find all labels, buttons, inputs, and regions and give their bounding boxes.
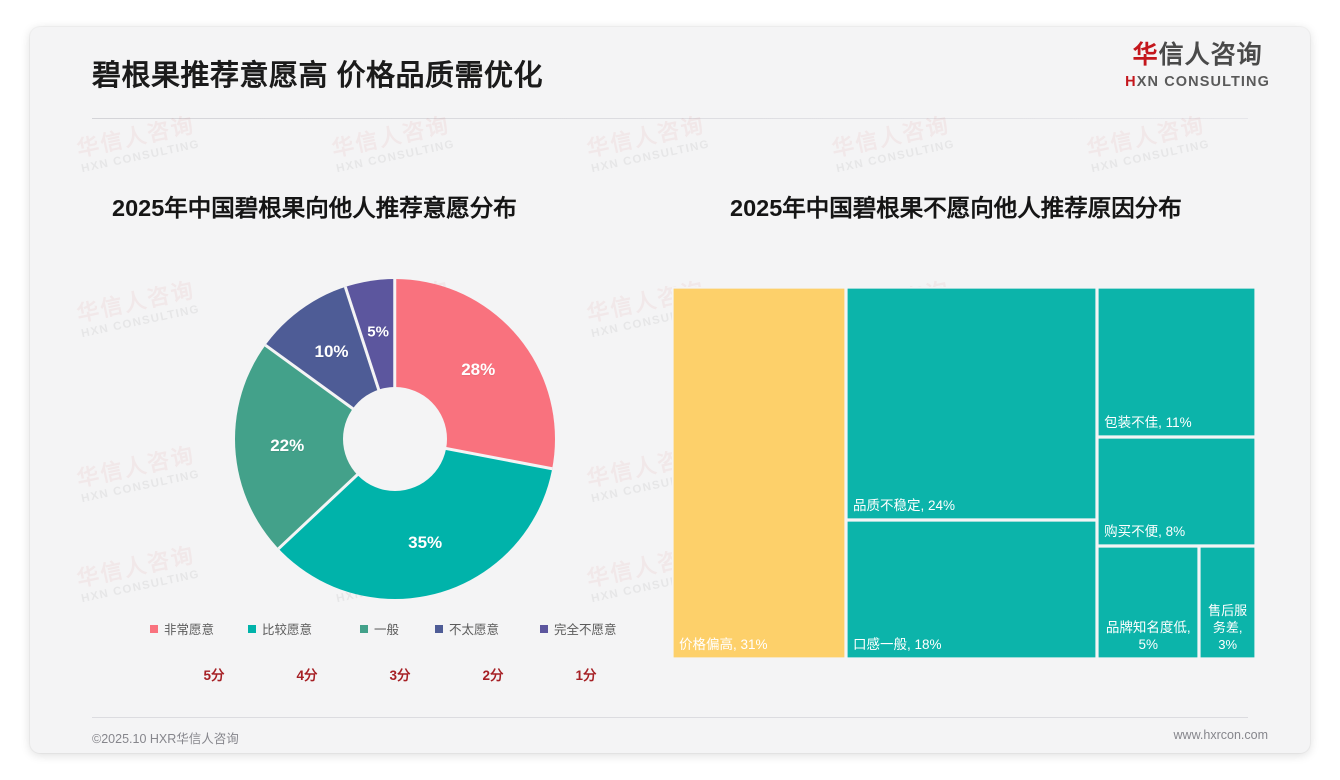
treemap-cell-label: 售后服务差, 3%	[1202, 603, 1253, 654]
watermark-chinese: 华信人咨询	[75, 444, 198, 491]
treemap-cell-label: 品牌知名度低, 5%	[1100, 619, 1196, 654]
recommendation-willingness-donut-chart: 28%35%22%10%5%	[235, 279, 555, 599]
slide-header: 碧根果推荐意愿高 价格品质需优化 华信人咨询 HXN CONSULTING	[30, 27, 1310, 119]
treemap-cell[interactable]: 口感一般, 18%	[846, 520, 1097, 660]
legend-color-swatch	[150, 625, 158, 633]
watermark-text: 华信人咨询HXN CONSULTING	[330, 114, 456, 176]
watermark-chinese: 华信人咨询	[75, 544, 198, 591]
donut-slice-label: 5%	[367, 324, 389, 341]
unwilling-reasons-treemap-chart: 价格偏高, 31%品质不稳定, 24%口感一般, 18%包装不佳, 11%购买不…	[672, 287, 1256, 659]
logo-letter-h: H	[1125, 74, 1137, 90]
logo-char-hua: 华	[1133, 41, 1159, 69]
watermark-english: HXN CONSULTING	[80, 469, 201, 505]
treemap-cell[interactable]: 品质不稳定, 24%	[846, 287, 1097, 520]
watermark-chinese: 华信人咨询	[75, 114, 198, 161]
watermark-chinese: 华信人咨询	[75, 279, 198, 326]
watermark-text: 华信人咨询HXN CONSULTING	[75, 114, 201, 176]
legend-color-swatch	[360, 625, 368, 633]
footer-copyright: ©2025.10 HXR华信人咨询	[92, 728, 239, 747]
right-chart-title: 2025年中国碧根果不愿向他人推荐原因分布	[730, 189, 1182, 223]
logo-english-text: HXN CONSULTING	[1125, 75, 1270, 90]
watermark-text: 华信人咨询HXN CONSULTING	[585, 114, 711, 176]
treemap-cell-label: 包装不佳, 11%	[1104, 414, 1252, 432]
legend-label: 非常愿意	[164, 619, 214, 638]
watermark-text: 华信人咨询HXN CONSULTING	[75, 544, 201, 606]
donut-legend-item[interactable]: 一般	[360, 619, 399, 638]
legend-color-swatch	[248, 625, 256, 633]
watermark-text: 华信人咨询HXN CONSULTING	[75, 279, 201, 341]
treemap-cell[interactable]: 售后服务差, 3%	[1199, 546, 1256, 659]
legend-label: 比较愿意	[262, 619, 312, 638]
treemap-cell[interactable]: 购买不便, 8%	[1097, 437, 1256, 546]
donut-legend: 非常愿意比较愿意一般不太愿意完全不愿意	[150, 619, 630, 641]
donut-slice-label: 10%	[315, 342, 349, 362]
score-label: 4分	[296, 664, 317, 684]
legend-label: 不太愿意	[449, 619, 499, 638]
donut-center-hole	[343, 387, 447, 491]
donut-legend-item[interactable]: 比较愿意	[248, 619, 312, 638]
legend-color-swatch	[435, 625, 443, 633]
legend-color-swatch	[540, 625, 548, 633]
left-chart-title: 2025年中国碧根果向他人推荐意愿分布	[112, 189, 517, 223]
slide-body: 华信人咨询HXN CONSULTING华信人咨询HXN CONSULTING华信…	[30, 119, 1310, 697]
donut-legend-item[interactable]: 完全不愿意	[540, 619, 617, 638]
watermark-english: HXN CONSULTING	[335, 139, 456, 175]
legend-label: 一般	[374, 619, 399, 638]
score-label: 3分	[389, 664, 410, 684]
watermark-chinese: 华信人咨询	[330, 114, 453, 161]
watermark-text: 华信人咨询HXN CONSULTING	[830, 114, 956, 176]
treemap-cell[interactable]: 品牌知名度低, 5%	[1097, 546, 1199, 659]
treemap-cell-label: 价格偏高, 31%	[679, 636, 842, 654]
footer-divider	[92, 717, 1248, 718]
watermark-english: HXN CONSULTING	[590, 139, 711, 175]
logo-chars-rest: 信人咨询	[1159, 41, 1263, 69]
donut-slice-label: 28%	[461, 360, 495, 380]
treemap-cell[interactable]: 包装不佳, 11%	[1097, 287, 1256, 437]
donut-legend-item[interactable]: 不太愿意	[435, 619, 499, 638]
donut-slice-label: 35%	[408, 533, 442, 553]
slide-canvas: 碧根果推荐意愿高 价格品质需优化 华信人咨询 HXN CONSULTING 华信…	[30, 27, 1310, 753]
donut-legend-item[interactable]: 非常愿意	[150, 619, 214, 638]
treemap-cell[interactable]: 价格偏高, 31%	[672, 287, 846, 659]
donut-slice-label: 22%	[270, 436, 304, 456]
watermark-english: HXN CONSULTING	[1090, 139, 1211, 175]
logo-letters-rest: XN CONSULTING	[1137, 74, 1270, 90]
score-label: 2分	[482, 664, 503, 684]
watermark-chinese: 华信人咨询	[830, 114, 953, 161]
score-label: 1分	[575, 664, 596, 684]
watermark-english: HXN CONSULTING	[80, 569, 201, 605]
page-title: 碧根果推荐意愿高 价格品质需优化	[92, 52, 543, 94]
watermark-text: 华信人咨询HXN CONSULTING	[75, 444, 201, 506]
watermark-english: HXN CONSULTING	[80, 139, 201, 175]
donut-score-axis: 5分4分3分2分1分	[150, 664, 630, 686]
score-label: 5分	[203, 664, 224, 684]
footer-website: www.hxrcon.com	[1174, 728, 1268, 742]
watermark-english: HXN CONSULTING	[80, 304, 201, 340]
watermark-text: 华信人咨询HXN CONSULTING	[1085, 114, 1211, 176]
watermark-chinese: 华信人咨询	[1085, 114, 1208, 161]
brand-logo: 华信人咨询 HXN CONSULTING	[1125, 43, 1270, 90]
watermark-chinese: 华信人咨询	[585, 114, 708, 161]
treemap-cell-label: 购买不便, 8%	[1104, 523, 1252, 541]
logo-chinese-text: 华信人咨询	[1125, 43, 1270, 68]
treemap-cell-label: 品质不稳定, 24%	[853, 497, 1093, 515]
legend-label: 完全不愿意	[554, 619, 617, 638]
watermark-english: HXN CONSULTING	[835, 139, 956, 175]
treemap-cell-label: 口感一般, 18%	[853, 636, 1093, 654]
